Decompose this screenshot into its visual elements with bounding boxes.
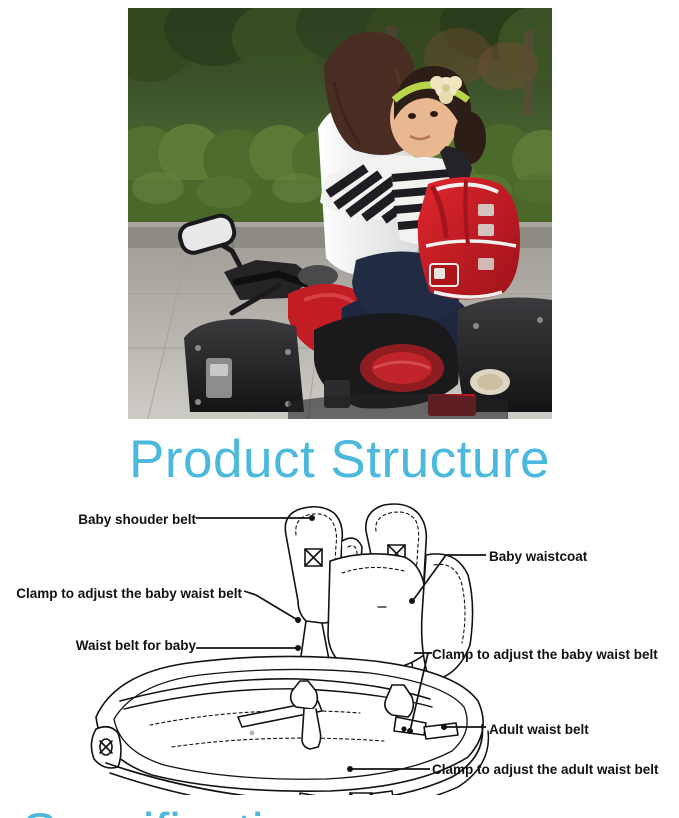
callout-label-clamp-adult-waist: Clamp to adjust the adult waist belt — [432, 762, 659, 778]
product-photo — [128, 8, 552, 419]
callout-label-adult-waist-belt: Adult waist belt — [489, 722, 589, 738]
page-title: Product Structure — [0, 429, 679, 491]
product-photo-illustration — [128, 8, 552, 419]
next-section-title: Specification — [0, 802, 679, 818]
leader-clamp-baby-waist-left — [244, 591, 296, 619]
next-section-title-text: Specification — [0, 802, 679, 818]
callout-label-clamp-baby-waist-left: Clamp to adjust the baby waist belt — [0, 586, 242, 602]
callout-label-baby-shoulder-belt: Baby shouder belt — [0, 512, 196, 528]
callout-label-waist-belt-for-baby: Waist belt for baby — [0, 638, 196, 654]
callout-label-clamp-baby-waist-right: Clamp to adjust the baby waist belt — [432, 647, 658, 663]
callout-label-baby-waistcoat: Baby waistcoat — [489, 549, 587, 565]
